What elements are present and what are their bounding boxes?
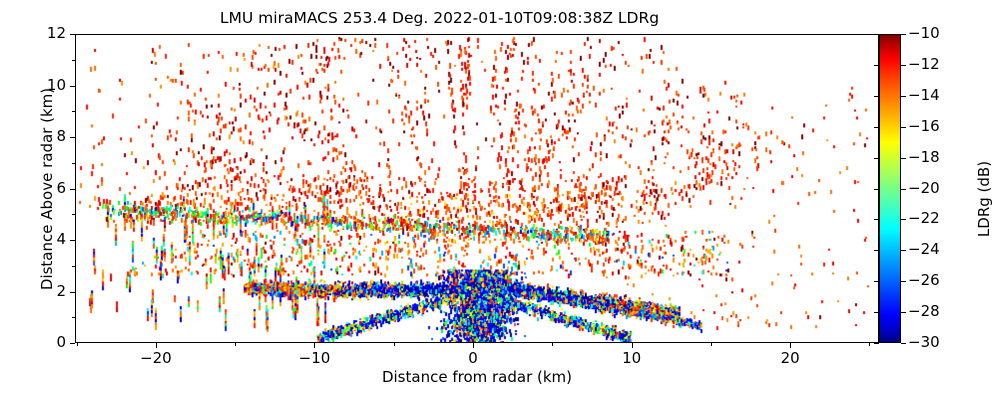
colorbar-tick [901,34,906,35]
y-tick-mark [70,86,75,87]
colorbar-gradient[interactable] [879,34,901,343]
colorbar-tick-label: −16 [908,118,940,135]
colorbar-tick-label: −24 [908,241,940,258]
colorbar-inner-tick [874,219,879,220]
colorbar-tick-label: −14 [908,87,940,104]
x-minor-tick [394,343,395,346]
colorbar-tick [901,250,906,251]
colorbar-inner-tick [874,127,879,128]
y-axis-title: Distance Above radar (km) [38,34,56,344]
colorbar-tick [901,65,906,66]
x-tick-mark [632,343,633,348]
colorbar-tick-label: −12 [908,56,940,73]
x-tick-label: 0 [438,350,508,367]
x-tick-mark [790,343,791,348]
x-tick-label: 10 [597,350,667,367]
colorbar-tick [901,127,906,128]
colorbar-title: LDRg (dB) [975,99,993,299]
colorbar-inner-tick [874,65,879,66]
y-tick-mark [70,137,75,138]
colorbar-inner-tick [874,281,879,282]
y-tick-mark [70,292,75,293]
x-tick-label: −10 [279,350,349,367]
x-tick-mark [314,343,315,348]
y-minor-tick [72,111,75,112]
scatter-plot-canvas[interactable] [76,35,878,342]
colorbar-inner-tick [874,96,879,97]
colorbar-tick [901,312,906,313]
x-axis-title: Distance from radar (km) [75,368,879,386]
y-minor-tick [72,163,75,164]
colorbar-tick-label: −30 [908,334,940,351]
x-tick-mark [156,343,157,348]
x-minor-tick [552,343,553,346]
y-minor-tick [72,214,75,215]
y-tick-mark [70,34,75,35]
colorbar-tick [901,281,906,282]
colorbar-tick [901,219,906,220]
colorbar-inner-tick [874,250,879,251]
y-minor-tick [72,60,75,61]
figure-root: LMU miraMACS 253.4 Deg. 2022-01-10T09:08… [0,0,1000,400]
x-minor-tick [235,343,236,346]
colorbar-tick-label: −28 [908,303,940,320]
colorbar-tick [901,343,906,344]
colorbar-tick-label: −18 [908,149,940,166]
colorbar-tick-label: −20 [908,180,940,197]
colorbar-inner-tick [874,34,879,35]
colorbar-inner-tick [874,158,879,159]
colorbar-tick-label: −10 [908,25,940,42]
colorbar-tick-label: −22 [908,210,940,227]
y-tick-mark [70,343,75,344]
x-minor-tick [869,343,870,346]
colorbar-tick [901,189,906,190]
x-tick-label: 20 [755,350,825,367]
y-minor-tick [72,266,75,267]
colorbar-tick [901,158,906,159]
colorbar-tick [901,96,906,97]
page-title: LMU miraMACS 253.4 Deg. 2022-01-10T09:08… [0,9,879,27]
x-tick-label: −20 [121,350,191,367]
colorbar-inner-tick [874,343,879,344]
colorbar-tick-label: −26 [908,272,940,289]
x-minor-tick [77,343,78,346]
plot-axes[interactable] [75,34,879,343]
y-minor-tick [72,317,75,318]
x-minor-tick [711,343,712,346]
x-tick-mark [473,343,474,348]
colorbar-inner-tick [874,189,879,190]
y-tick-mark [70,189,75,190]
colorbar-inner-tick [874,312,879,313]
y-tick-mark [70,240,75,241]
